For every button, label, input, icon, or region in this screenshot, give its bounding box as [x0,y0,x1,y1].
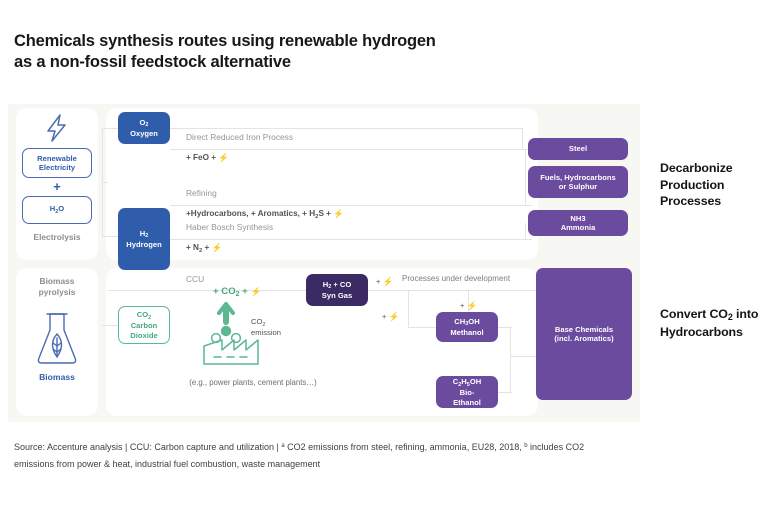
electrolysis-caption: Electrolysis [16,232,98,243]
source-footnote: Source: Accenture analysis | CCU: Carbon… [14,440,614,472]
ccu-label: CCU [186,274,204,285]
diagram-canvas: Renewable Electricity + H2O Electrolysis… [8,104,640,422]
node-hydrogen[interactable]: H2Hydrogen [118,208,170,270]
energy-marker-syngas: + ⚡ [376,276,393,287]
process-formula-dri: + FeO + ⚡ [186,152,229,163]
node-fuels-hydrocarbons-sulphur[interactable]: Fuels, Hydrocarbonsor Sulphur [528,166,628,198]
node-oxygen[interactable]: O2Oxygen [118,112,170,144]
connector-ccu-baseline [108,290,170,291]
node-fuels-label: Fuels, Hydrocarbonsor Sulphur [540,173,616,192]
connector-products-trunk [510,327,511,392]
process-rule-2 [180,205,532,206]
connector-syngas-out [368,290,536,291]
input-renewable-electricity: Renewable Electricity [22,148,92,178]
energy-bolt-icon: ⚡ [333,208,344,219]
node-bio-ethanol[interactable]: C2H5OHBio-Ethanol [436,376,498,408]
energy-bolt-icon: ⚡ [383,276,394,287]
node-carbon-dioxide-label: CO2CarbonDioxide [130,310,157,340]
connector-row3-join [525,223,526,239]
energy-marker-ethanol-branch: + ⚡ [382,311,399,322]
upper-process-zone [106,108,538,260]
node-methanol[interactable]: CH3OHMethanol [436,312,498,342]
biomass-pyrolysis-caption: Biomasspyrolysis [16,276,98,298]
connector-oxygen-drop [522,128,523,150]
node-bio-ethanol-label: C2H5OHBio-Ethanol [453,377,481,407]
energy-bolt-icon: ⚡ [467,300,478,311]
rail-heading-convert: Convert CO2 into Hydrocarbons [660,306,760,340]
connector-ethanol-out [498,392,512,393]
energy-bolt-icon: ⚡ [250,286,261,297]
lightning-bolt-icon [38,112,76,144]
connector-row1-join [525,149,526,183]
process-label-haber-bosch: Haber Bosch Synthesis [186,222,273,233]
page-title: Chemicals synthesis routes using renewab… [14,31,574,73]
energy-marker-methanol: + ⚡ [460,300,477,311]
energy-bolt-icon: ⚡ [212,242,223,253]
node-hydrogen-label: H2Hydrogen [126,229,161,250]
process-formula-haber-bosch: + N2 + ⚡ [186,242,222,255]
connector-to-methanol [408,327,436,328]
connector-methanol-out [498,327,512,328]
node-syn-gas-label: H2 + COSyn Gas [322,280,352,301]
node-syn-gas[interactable]: H2 + COSyn Gas [306,274,368,306]
node-ammonia[interactable]: NH3Ammonia [528,210,628,236]
node-steel[interactable]: Steel [528,138,628,160]
rail-heading-decarbonize: Decarbonize Production Processes [660,160,760,210]
node-base-chemicals[interactable]: Base Chemicals(incl. Aromatics) [536,268,632,400]
node-base-chemicals-label: Base Chemicals(incl. Aromatics) [554,325,613,344]
input-water: H2O [22,196,92,224]
energy-bolt-icon: ⚡ [218,152,229,163]
plus-icon: + [22,178,92,196]
node-methanol-label: CH3OHMethanol [450,317,483,338]
slide-root: Chemicals synthesis routes using renewab… [0,0,760,505]
node-carbon-dioxide[interactable]: CO2CarbonDioxide [118,306,170,344]
node-oxygen-label: O2Oxygen [130,118,158,139]
flask-leaf-icon [32,308,82,370]
process-rule-1 [180,149,532,150]
process-formula-refining: +Hydrocarbons, + Aromatics, + H2S + ⚡ [186,208,344,221]
ccu-co2-input-label: + CO2 + ⚡ [213,286,261,297]
process-label-dri: Direct Reduced Iron Process [186,132,293,143]
connector-to-base-chemicals [510,356,538,357]
connector-oxygen-out [170,128,522,129]
input-renewable-electricity-label: Renewable Electricity [23,154,91,173]
input-water-label: H2O [50,204,64,215]
energy-bolt-icon: ⚡ [389,311,400,322]
processes-under-development-label: Processes under development [402,274,510,283]
biomass-label: Biomass [16,372,98,382]
connector-row2-join [525,182,526,206]
process-rule-3 [180,239,532,240]
process-label-refining: Refining [186,188,217,199]
connector-electrolysis-stub [102,182,108,183]
connector-syngas-down [408,290,409,328]
co2-emission-label: CO2emission [251,317,281,338]
ccu-source-note: (e.g., power plants, cement plants…) [118,378,388,387]
node-ammonia-label: NH3Ammonia [561,214,596,233]
node-steel-label: Steel [569,144,587,153]
